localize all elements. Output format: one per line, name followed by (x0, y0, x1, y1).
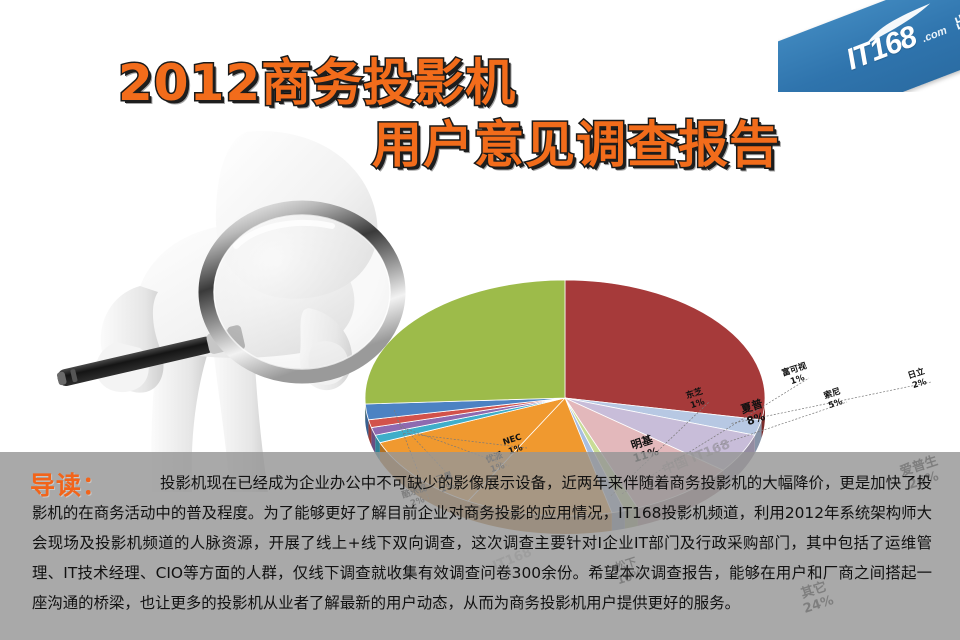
logo-suffix-text: 出品 (951, 4, 960, 34)
intro-body-text: 投影机现在已经成为企业办公中不可缺少的影像展示设备，近两年来伴随着商务投影机的大… (14, 468, 946, 618)
figure-illustration (40, 96, 440, 496)
intro-label: 导读： (30, 466, 108, 502)
ribbon-banner: IT168 .com 出品 (778, 0, 960, 92)
logo-domain-text: .com (920, 25, 948, 45)
pie-label-group: 索尼5% (822, 386, 845, 412)
logo-it168-text: IT168 (842, 20, 921, 77)
swoosh-icon (859, 2, 939, 49)
pie-label-group: 日立2% (906, 366, 929, 392)
pie-label-group: 富可视1% (780, 360, 811, 388)
intro-body-span: 投影机现在已经成为企业办公中不可缺少的影像展示设备，近两年来伴随着商务投影机的大… (32, 474, 932, 612)
pie-slice[interactable] (565, 280, 765, 420)
intro-panel: 导读： 投影机现在已经成为企业办公中不可缺少的影像展示设备，近两年来伴随着商务投… (0, 452, 960, 640)
brand-ribbon: IT168 .com 出品 (778, 0, 960, 92)
poster-canvas: IT168 .com 出品 (0, 0, 960, 640)
hero-3d-figure (40, 96, 440, 496)
